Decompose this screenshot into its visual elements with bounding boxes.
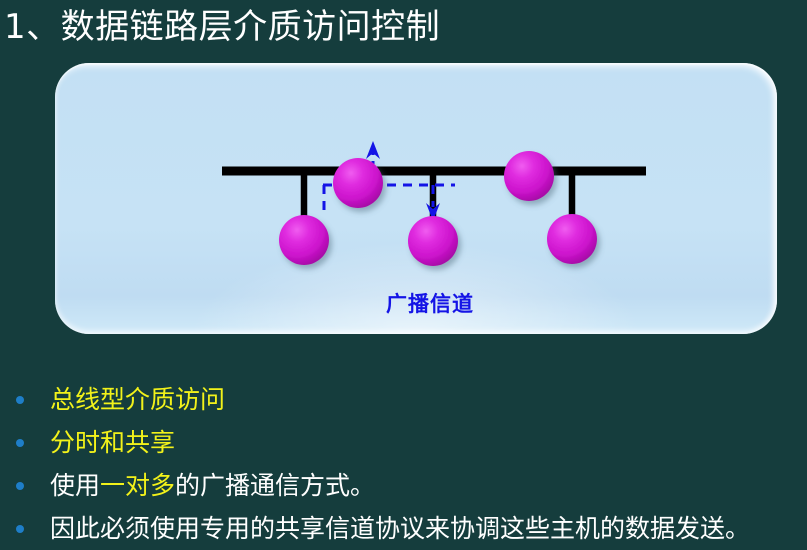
page-title: 1、数据链路层介质访问控制 bbox=[4, 2, 794, 54]
bullet-dot-icon bbox=[16, 396, 24, 404]
bullet-text: 使用一对多的广播通信方式。 bbox=[50, 471, 375, 501]
bullet-dot-icon bbox=[16, 482, 24, 490]
bullet-segment-highlight: 一对多 bbox=[100, 471, 175, 500]
node-bottom-right bbox=[547, 214, 597, 264]
bullet-segment-plain: 使用 bbox=[50, 471, 100, 500]
node-top-left bbox=[333, 158, 383, 208]
bullet-segment-plain: 的广播通信方式。 bbox=[175, 471, 375, 500]
bullet-shared-protocol: 因此必须使用专用的共享信道协议来协调这些主机的数据发送。 bbox=[0, 507, 807, 550]
arrowhead-up bbox=[366, 141, 380, 159]
bullet-bus-access: 总线型介质访问 bbox=[0, 378, 807, 421]
bullet-list: 总线型介质访问 分时和共享 使用一对多的广播通信方式。 因此必须使用专用的共享信… bbox=[0, 378, 807, 550]
bullet-text: 总线型介质访问 bbox=[50, 385, 225, 415]
broadcast-channel-label: 广播信道 bbox=[386, 288, 474, 318]
bullet-text: 因此必须使用专用的共享信道协议来协调这些主机的数据发送。 bbox=[50, 514, 750, 544]
bullet-time-share: 分时和共享 bbox=[0, 421, 807, 464]
bullet-dot-icon bbox=[16, 439, 24, 447]
node-bottom-left bbox=[279, 215, 329, 265]
diagram-panel: 广播信道 bbox=[55, 63, 777, 334]
bullet-dot-icon bbox=[16, 525, 24, 533]
bullet-broadcast: 使用一对多的广播通信方式。 bbox=[0, 464, 807, 507]
node-bottom-mid bbox=[408, 216, 458, 266]
bullet-text: 分时和共享 bbox=[50, 428, 175, 458]
node-top-right bbox=[504, 151, 554, 201]
